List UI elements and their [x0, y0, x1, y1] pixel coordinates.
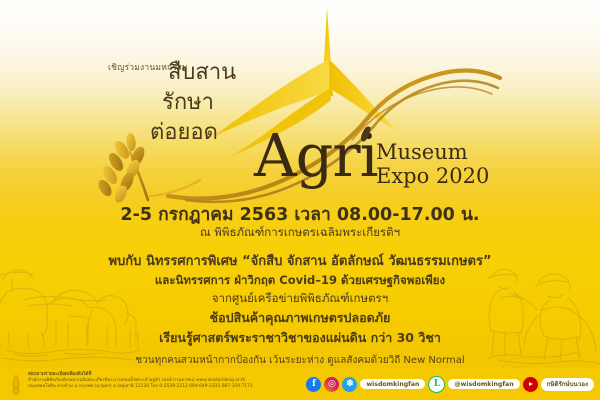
body-line-5: เรียนรู้ศาสตร์พระราชาวิชาของแผ่นดิน กว่า… [0, 328, 600, 348]
slogan-line-1: สืบสาน [168, 62, 236, 84]
body-line-1: พบกับ นิทรรศการพิเศษ “จักสืบ จักสาน อัตล… [0, 250, 600, 271]
handle-at-wisdomkingfan[interactable]: @wisdomkingfan [448, 379, 519, 389]
museum-line: Museum [376, 141, 489, 165]
poster-canvas: เชิญร่วมงานมหกรรม สืบสาน รักษา ต่อยอด Ag… [0, 0, 600, 400]
instagram-icon[interactable]: ◎ [324, 377, 339, 392]
contact-fineprint: สอบถามรายละเอียดเพิ่มเติมได้ที่ สำนักงาน… [28, 372, 328, 389]
youtube-icon[interactable] [523, 377, 538, 392]
fineprint-line-3: ถนนพหลโยธิน ตรงข้าม ม.กรุงเทพ (นวนคร) จ.… [28, 384, 328, 390]
body-line-2: และนิทรรศการ ฝ่าวิกฤต Covid–19 ด้วยเศรษฐ… [0, 272, 600, 290]
expo-year-line: Expo 2020 [376, 165, 489, 189]
event-venue: ณ พิพิธภัณฑ์การเกษตรเฉลิมพระเกียรติฯ [0, 224, 600, 242]
line-icon[interactable]: L [428, 376, 445, 393]
twitter-icon[interactable]: ❄ [342, 377, 357, 392]
slogan-line-3: ต่อยอด [150, 122, 218, 144]
body-line-4: ช้อปสินค้าคุณภาพเกษตรปลอดภัย [0, 308, 600, 328]
body-line-3: จากศูนย์เครือข่ายพิพิธภัณฑ์เกษตรฯ [0, 290, 600, 308]
museum-expo-subtitle: Museum Expo 2020 [376, 141, 489, 188]
body-line-6-new-normal: ชวนทุกคนสวมหน้ากากป้องกัน เว้นระยะห่าง ด… [0, 353, 600, 368]
agri-wordmark: Agri [254, 128, 377, 184]
facebook-icon[interactable]: f [306, 377, 321, 392]
social-links: f ◎ ❄ wisdomkingfan L @wisdomkingfan กษิ… [306, 374, 594, 394]
slogan-line-2: รักษา [162, 92, 214, 114]
handle-wisdomkingfan[interactable]: wisdomkingfan [360, 379, 425, 389]
organization-logo-icon [8, 374, 24, 395]
handle-youtube-channel[interactable]: กษิติรักษ์บนวอง [541, 378, 594, 391]
footer-bar: สอบถามรายละเอียดเพิ่มเติมได้ที่ สำนักงาน… [0, 368, 600, 400]
